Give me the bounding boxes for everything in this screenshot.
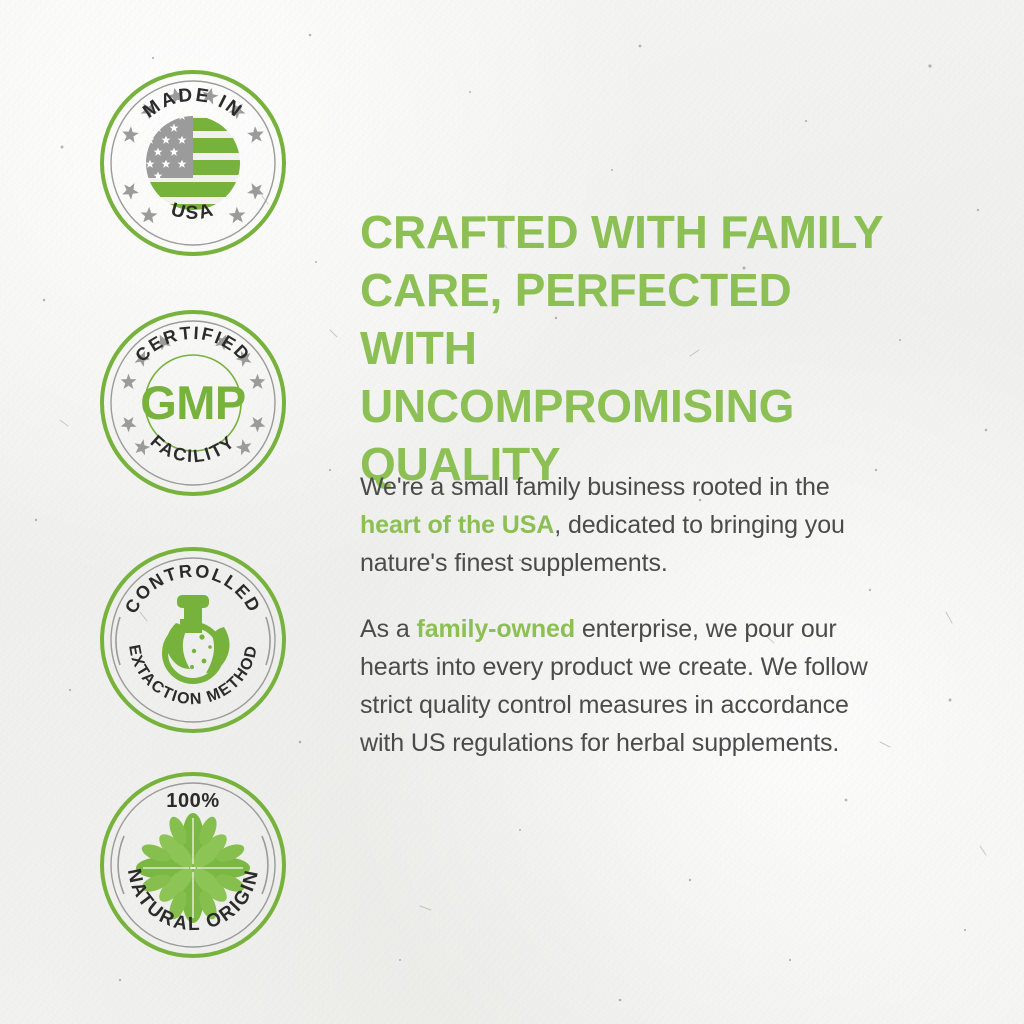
left-arc-accent bbox=[118, 836, 124, 894]
headline-line-3: UNCOMPROMISING bbox=[360, 380, 794, 432]
badge-bottom-text: USA bbox=[169, 199, 218, 224]
badge-gmp-certified-facility: GMP CERTIFIED FACILITY bbox=[98, 308, 288, 498]
paragraph-1-part-1: We're a small family business rooted in … bbox=[360, 473, 830, 501]
paragraph-2-part-1: As a bbox=[360, 615, 416, 643]
headline-line-1: CRAFTED WITH FAMILY bbox=[360, 206, 883, 258]
paragraph-1: We're a small family business rooted in … bbox=[360, 468, 890, 582]
badge-top-text: CERTIFIED bbox=[131, 323, 254, 366]
right-arc-accent bbox=[266, 617, 270, 665]
badge-natural-origin: 100% NATURAL ORIGIN bbox=[98, 770, 288, 960]
paragraph-2-highlight: family-owned bbox=[416, 615, 575, 643]
badge-made-in-usa: MADE IN USA bbox=[98, 68, 288, 258]
body-copy: We're a small family business rooted in … bbox=[360, 468, 890, 762]
left-arc-accent bbox=[116, 617, 120, 665]
flask-leaf-icon bbox=[165, 595, 230, 681]
badge-top-text: 100% bbox=[166, 790, 220, 812]
paragraph-2: As a family-owned enterprise, we pour ou… bbox=[360, 610, 890, 762]
badge-controlled-extraction-method: CONTROLLED EXTACTION METHOD bbox=[98, 545, 288, 735]
paragraph-1-highlight: heart of the USA bbox=[360, 511, 554, 539]
right-arc-accent bbox=[262, 836, 268, 894]
marketing-panel: MADE IN USA bbox=[0, 0, 1024, 1024]
content-column: CRAFTED WITH FAMILY CARE, PERFECTED WITH… bbox=[360, 0, 920, 1024]
badge-bottom-text: EXTACTION METHOD bbox=[125, 643, 261, 708]
page-title: CRAFTED WITH FAMILY CARE, PERFECTED WITH… bbox=[360, 203, 920, 493]
badge-center-text: GMP bbox=[140, 376, 246, 429]
badge-bottom-text: FACILITY bbox=[147, 431, 240, 466]
headline-line-2: CARE, PERFECTED WITH bbox=[360, 264, 792, 374]
trust-badges-column: MADE IN USA bbox=[0, 0, 340, 1024]
